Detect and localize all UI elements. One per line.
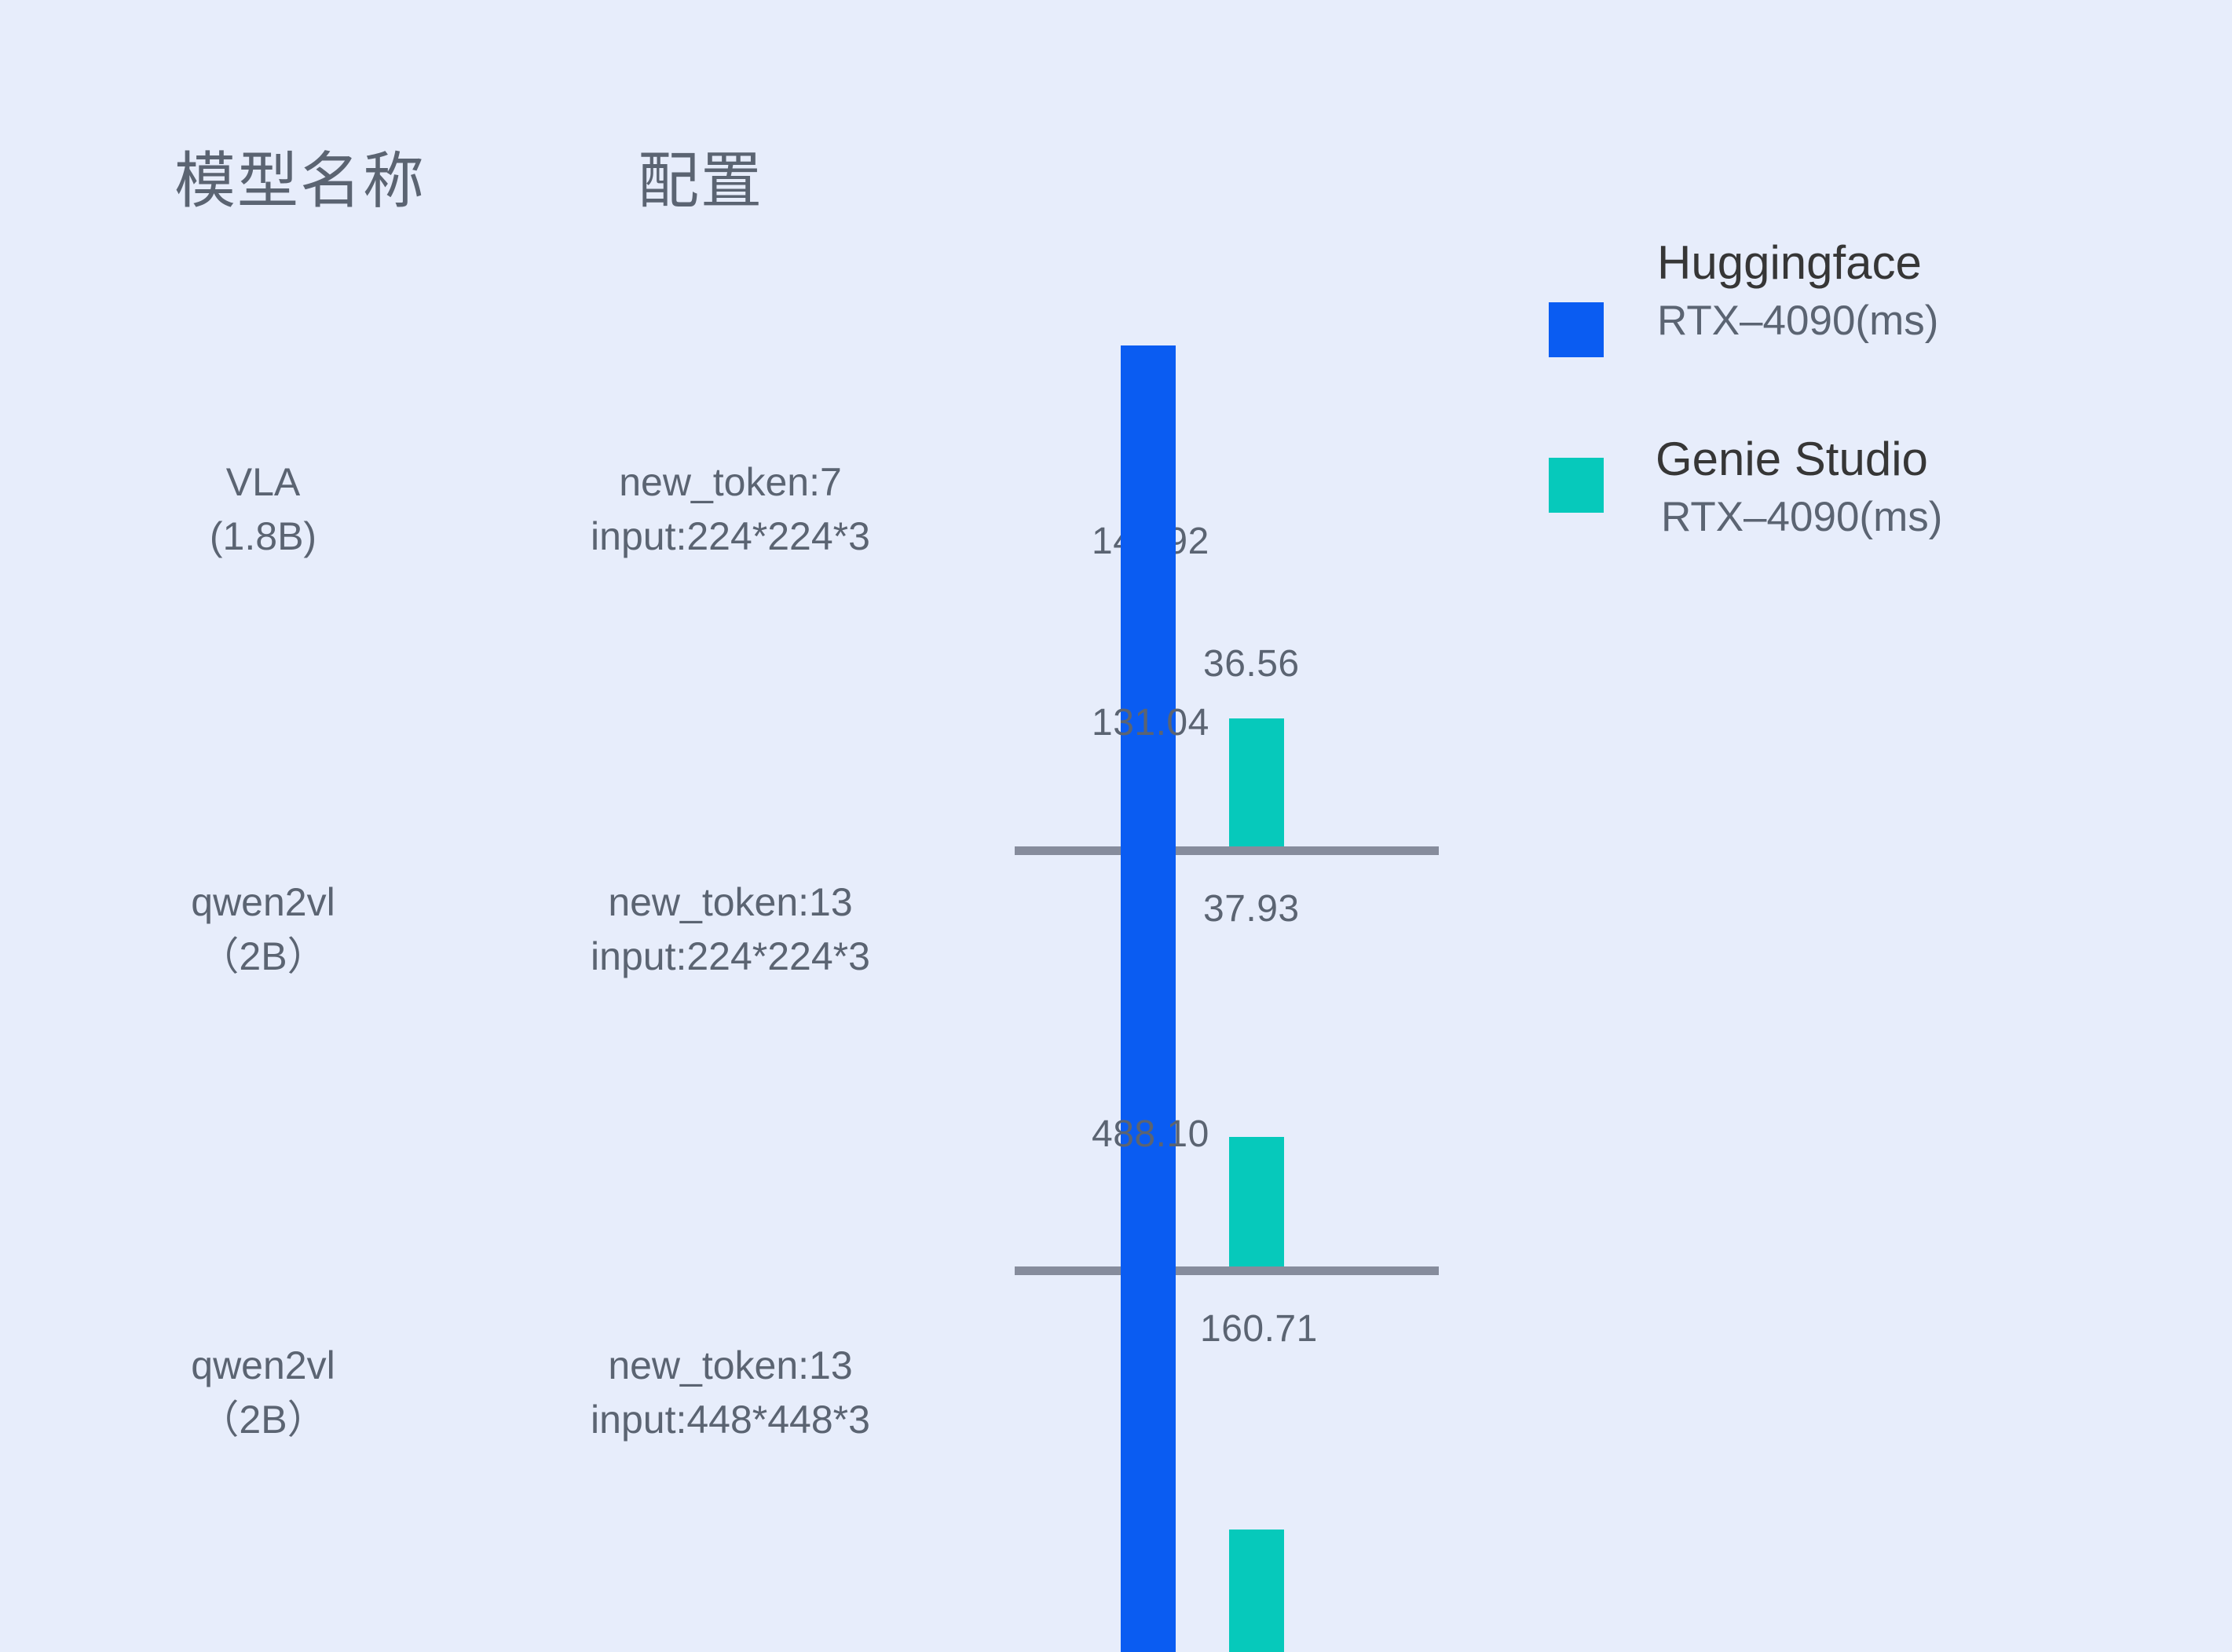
chart-row: qwen2vl （2B） new_token:13 input:224*224*…: [0, 679, 2232, 1025]
genie-bar[interactable]: [1229, 1530, 1284, 1652]
legend-subtitle: RTX–4090(ms): [1657, 297, 1938, 345]
genie-value-label: 160.71: [1200, 1307, 1318, 1350]
row-plot-area: 131.04 37.93: [1015, 679, 1439, 1025]
column-header-model-name: 模型名称: [174, 132, 426, 220]
row-config-label: new_token:7 input:224*224*3: [440, 455, 1021, 564]
legend-title: Huggingface: [1657, 236, 1922, 290]
chart-canvas: 模型名称 配置 VLA (1.8B) new_token:7 input:224…: [0, 0, 2232, 1652]
chart-row: qwen2vl （2B） new_token:13 input:448*448*…: [0, 1095, 2232, 1488]
row-config-line1: new_token:13: [440, 875, 1021, 930]
row-config-line1: new_token:13: [440, 1339, 1021, 1393]
legend-title: Genie Studio: [1656, 432, 1928, 486]
row-model-line1: qwen2vl: [134, 1339, 393, 1393]
row-model-line1: VLA: [134, 455, 393, 510]
row-config-line2: input:224*224*3: [440, 510, 1021, 564]
row-model-line2: (1.8B): [134, 510, 393, 564]
row-plot-area: 141.92 36.56: [1015, 259, 1439, 605]
row-model-line2: （2B）: [134, 1393, 393, 1447]
row-config-line2: input:448*448*3: [440, 1393, 1021, 1447]
row-config-label: new_token:13 input:224*224*3: [440, 875, 1021, 984]
row-model-label: qwen2vl （2B）: [134, 875, 393, 984]
row-model-line1: qwen2vl: [134, 875, 393, 930]
row-model-line2: （2B）: [134, 930, 393, 984]
row-config-label: new_token:13 input:448*448*3: [440, 1339, 1021, 1447]
legend-subtitle: RTX–4090(ms): [1661, 493, 1942, 541]
teal-square-swatch-icon: [1549, 458, 1604, 513]
blue-square-swatch-icon: [1549, 302, 1604, 357]
row-model-label: VLA (1.8B): [134, 455, 393, 564]
row-model-label: qwen2vl （2B）: [134, 1339, 393, 1447]
column-header-config: 配置: [638, 132, 763, 220]
huggingface-value-label: 131.04: [1092, 701, 1209, 744]
row-config-line2: input:224*224*3: [440, 930, 1021, 984]
huggingface-bar[interactable]: [1121, 1188, 1176, 1652]
row-plot-area: 488.10 160.71: [1015, 1095, 1439, 1488]
row-config-line1: new_token:7: [440, 455, 1021, 510]
genie-value-label: 37.93: [1203, 887, 1300, 930]
huggingface-value-label: 488.10: [1092, 1113, 1209, 1156]
